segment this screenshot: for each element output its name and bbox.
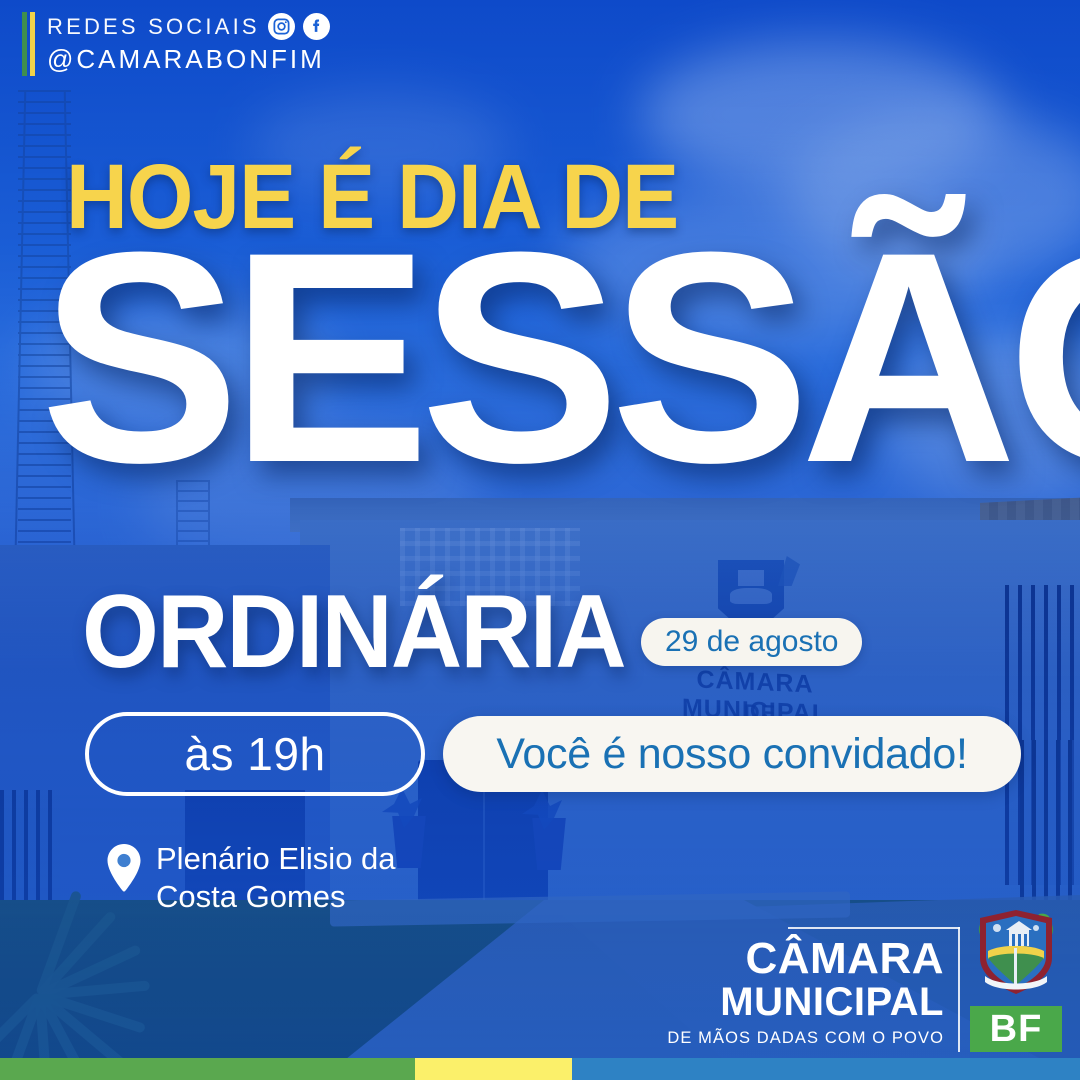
- headline-sub: ORDINÁRIA: [82, 586, 625, 680]
- logo-line-1: CÂMARA: [667, 937, 944, 981]
- accent-bar-yellow: [30, 12, 35, 76]
- facebook-icon[interactable]: [303, 13, 330, 40]
- logo-line-2: MUNICIPAL: [667, 981, 944, 1023]
- bf-badge: BF: [970, 1006, 1062, 1052]
- map-pin-icon: [106, 844, 142, 892]
- instagram-icon[interactable]: [268, 13, 295, 40]
- social-handle[interactable]: @CAMARABONFIM: [47, 45, 330, 75]
- location-block: Plenário Elisio da Costa Gomes: [106, 840, 396, 916]
- location-line-1: Plenário Elisio da: [156, 841, 396, 876]
- invite-pill: Você é nosso convidado!: [443, 716, 1021, 792]
- strip-green: [0, 1058, 415, 1080]
- headline-main: SESSÃO: [40, 240, 1080, 474]
- strip-blue: [572, 1058, 1080, 1080]
- social-header: REDES SOCIAIS @CAMARABONFIM: [22, 12, 330, 76]
- location-text: Plenário Elisio da Costa Gomes: [156, 840, 396, 916]
- social-label: REDES SOCIAIS: [47, 16, 260, 38]
- coat-of-arms-icon: [973, 906, 1059, 1002]
- strip-yellow: [415, 1058, 572, 1080]
- location-line-2: Costa Gomes: [156, 879, 346, 914]
- institution-logo: CÂMARA MUNICIPAL DE MÃOS DADAS COM O POV…: [663, 906, 1064, 1052]
- logo-tagline: DE MÃOS DADAS COM O POVO: [667, 1030, 944, 1047]
- bottom-tricolor-strip: [0, 1058, 1080, 1080]
- time-pill: às 19h: [85, 712, 425, 796]
- accent-bar-green: [22, 12, 27, 76]
- date-pill: 29 de agosto: [641, 618, 862, 666]
- accent-bars: [22, 12, 35, 76]
- social-media-poster: CÂMARA MUNICIPAL DE REDES SOCIAIS: [0, 0, 1080, 1080]
